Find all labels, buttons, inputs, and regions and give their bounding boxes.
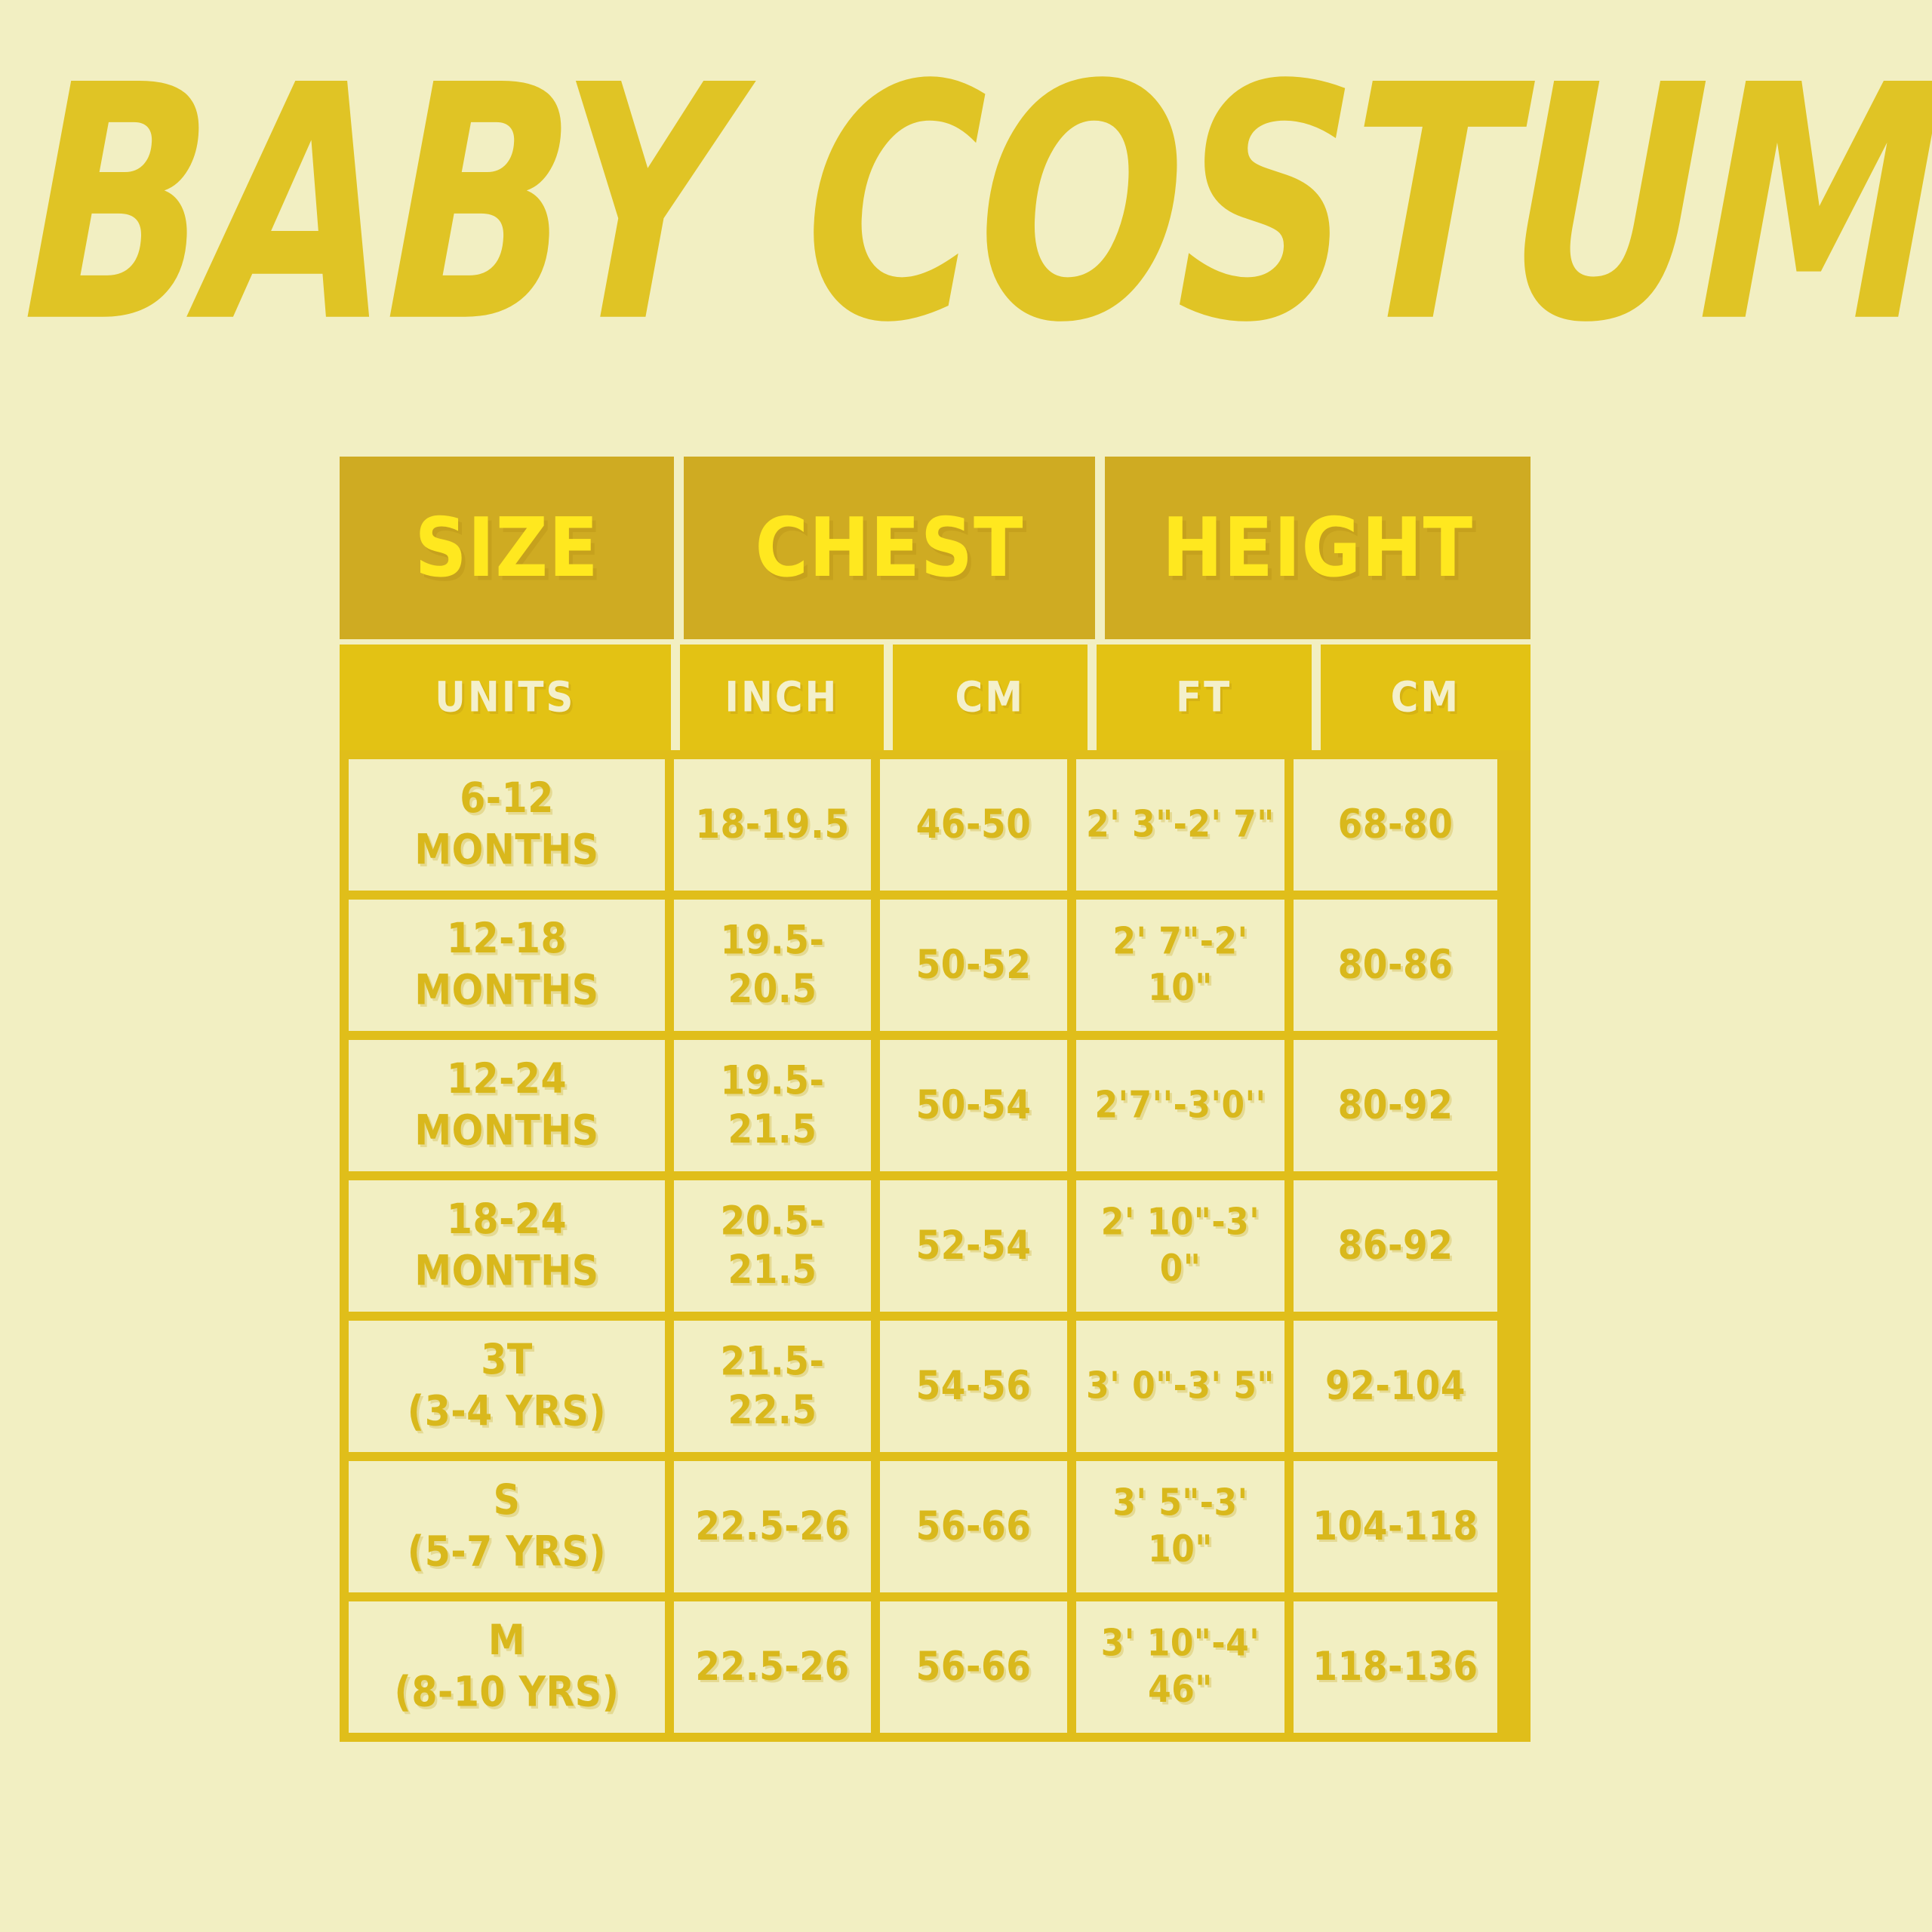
cell-size: 12-18 MONTHS (349, 900, 665, 1031)
group-header-height: HEIGHT (1105, 457, 1531, 639)
cell-chest-inch-text: 22.5-26 (695, 1502, 849, 1551)
cell-chest-cm: 56-66 (871, 1461, 1067, 1592)
cell-chest-cm-text: 50-54 (916, 1081, 1032, 1130)
cell-height-cm: 92-104 (1284, 1321, 1497, 1452)
column-header-units-label: UNITS (435, 673, 575, 721)
cell-chest-cm: 54-56 (871, 1321, 1067, 1452)
cell-height-ft-text: 2' 3"-2' 7" (1086, 801, 1275, 848)
table-body: 6-12 MONTHS 18-19.5 46-50 2' 3"-2' 7" 68… (340, 750, 1531, 1742)
cell-size-text: 12-24 MONTHS (414, 1054, 598, 1157)
cell-chest-inch-text: 19.5-20.5 (677, 916, 868, 1015)
table-row: 6-12 MONTHS 18-19.5 46-50 2' 3"-2' 7" 68… (349, 759, 1521, 891)
page-title: BABY COSTUME (22, 72, 1932, 338)
cell-height-cm: 104-118 (1284, 1461, 1497, 1592)
cell-height-cm-text: 80-92 (1338, 1081, 1454, 1130)
cell-height-ft-text: 3' 0"-3' 5" (1086, 1363, 1275, 1409)
cell-size: M (8-10 YRS) (349, 1601, 665, 1733)
cell-chest-inch-text: 19.5-21.5 (677, 1057, 868, 1155)
cell-chest-cm-text: 52-54 (916, 1221, 1032, 1270)
cell-chest-inch: 20.5-21.5 (665, 1180, 871, 1312)
cell-chest-cm: 56-66 (871, 1601, 1067, 1733)
cell-size: 3T (3-4 YRS) (349, 1321, 665, 1452)
cell-size-text: 6-12 MONTHS (414, 774, 598, 876)
cell-chest-inch: 19.5-20.5 (665, 900, 871, 1031)
group-header-chest-label: CHEST (755, 500, 1024, 595)
cell-chest-cm-text: 50-52 (916, 940, 1032, 989)
cell-height-ft-text: 2'7''-3'0'' (1094, 1082, 1266, 1128)
column-header-units: UNITS (340, 645, 671, 750)
cell-chest-inch: 21.5-22.5 (665, 1321, 871, 1452)
cell-size-text: 3T (3-4 YRS) (408, 1335, 606, 1438)
cell-height-cm-text: 80-86 (1338, 940, 1454, 989)
cell-chest-cm: 46-50 (871, 759, 1067, 891)
cell-height-ft-text: 3' 5"-3' 10" (1079, 1481, 1281, 1573)
cell-size-text: 12-18 MONTHS (414, 914, 598, 1017)
column-header-height-cm-label: CM (1391, 673, 1460, 721)
cell-size-text: 18-24 MONTHS (414, 1195, 598, 1297)
cell-chest-inch-text: 21.5-22.5 (677, 1337, 868, 1436)
cell-chest-cm-text: 56-66 (916, 1642, 1032, 1691)
table-column-header-row: UNITS INCH CM FT CM (340, 645, 1531, 750)
column-header-chest-cm-label: CM (955, 673, 1025, 721)
cell-chest-inch: 18-19.5 (665, 759, 871, 891)
table-row: S (5-7 YRS) 22.5-26 56-66 3' 5"-3' 10" 1… (349, 1452, 1521, 1592)
cell-height-cm-text: 118-136 (1312, 1642, 1478, 1691)
cell-height-cm: 118-136 (1284, 1601, 1497, 1733)
cell-chest-cm: 50-52 (871, 900, 1067, 1031)
column-header-chest-inch-label: INCH (724, 673, 838, 721)
cell-height-cm: 68-80 (1284, 759, 1497, 891)
table-group-header-row: SIZE CHEST HEIGHT (340, 457, 1531, 639)
cell-chest-cm: 50-54 (871, 1040, 1067, 1171)
cell-size: 18-24 MONTHS (349, 1180, 665, 1312)
cell-chest-cm-text: 46-50 (916, 800, 1032, 849)
cell-height-ft: 2' 10"-3' 0" (1067, 1180, 1284, 1312)
table-row: M (8-10 YRS) 22.5-26 56-66 3' 10"-4' 46"… (349, 1592, 1521, 1733)
cell-chest-inch-text: 22.5-26 (695, 1642, 849, 1691)
group-header-height-label: HEIGHT (1162, 500, 1473, 595)
cell-height-ft: 3' 5"-3' 10" (1067, 1461, 1284, 1592)
size-chart-page: BABY COSTUME SIZE CHEST HEIGHT UNITS INC… (0, 0, 1932, 1932)
table-row: 3T (3-4 YRS) 21.5-22.5 54-56 3' 0"-3' 5"… (349, 1312, 1521, 1452)
cell-height-cm: 80-92 (1284, 1040, 1497, 1171)
column-header-height-ft-label: FT (1176, 673, 1232, 721)
cell-height-ft: 2'7''-3'0'' (1067, 1040, 1284, 1171)
cell-size: S (5-7 YRS) (349, 1461, 665, 1592)
cell-chest-inch-text: 18-19.5 (695, 800, 849, 849)
column-header-height-cm: CM (1321, 645, 1531, 750)
cell-height-cm-text: 104-118 (1312, 1502, 1478, 1551)
table-row: 12-24 MONTHS 19.5-21.5 50-54 2'7''-3'0''… (349, 1031, 1521, 1171)
cell-height-cm-text: 92-104 (1325, 1361, 1466, 1411)
cell-height-ft: 3' 10"-4' 46" (1067, 1601, 1284, 1733)
cell-height-cm: 80-86 (1284, 900, 1497, 1031)
cell-chest-inch-text: 20.5-21.5 (677, 1197, 868, 1296)
cell-height-cm-text: 86-92 (1338, 1221, 1454, 1270)
cell-height-ft-text: 2' 7"-2' 10" (1079, 919, 1281, 1011)
cell-height-ft: 2' 3"-2' 7" (1067, 759, 1284, 891)
column-header-chest-cm: CM (893, 645, 1087, 750)
cell-height-ft-text: 3' 10"-4' 46" (1079, 1621, 1281, 1713)
table-row: 18-24 MONTHS 20.5-21.5 52-54 2' 10"-3' 0… (349, 1171, 1521, 1312)
size-chart-table: SIZE CHEST HEIGHT UNITS INCH CM FT (340, 457, 1531, 1742)
cell-height-ft: 3' 0"-3' 5" (1067, 1321, 1284, 1452)
cell-height-cm: 86-92 (1284, 1180, 1497, 1312)
cell-height-ft-text: 2' 10"-3' 0" (1079, 1200, 1281, 1292)
page-title-container: BABY COSTUME (0, 72, 1932, 277)
cell-chest-inch: 22.5-26 (665, 1461, 871, 1592)
cell-size: 6-12 MONTHS (349, 759, 665, 891)
group-header-size-label: SIZE (414, 500, 598, 595)
cell-chest-cm-text: 56-66 (916, 1502, 1032, 1551)
cell-height-cm-text: 68-80 (1338, 800, 1454, 849)
column-header-height-ft: FT (1097, 645, 1312, 750)
cell-size-text: S (5-7 YRS) (408, 1475, 606, 1578)
table-row: 12-18 MONTHS 19.5-20.5 50-52 2' 7"-2' 10… (349, 891, 1521, 1031)
cell-height-ft: 2' 7"-2' 10" (1067, 900, 1284, 1031)
cell-size: 12-24 MONTHS (349, 1040, 665, 1171)
cell-chest-inch: 19.5-21.5 (665, 1040, 871, 1171)
cell-chest-inch: 22.5-26 (665, 1601, 871, 1733)
group-header-chest: CHEST (684, 457, 1095, 639)
group-header-size: SIZE (340, 457, 674, 639)
cell-chest-cm-text: 54-56 (916, 1361, 1032, 1411)
cell-chest-cm: 52-54 (871, 1180, 1067, 1312)
column-header-chest-inch: INCH (680, 645, 884, 750)
cell-size-text: M (8-10 YRS) (395, 1616, 620, 1718)
